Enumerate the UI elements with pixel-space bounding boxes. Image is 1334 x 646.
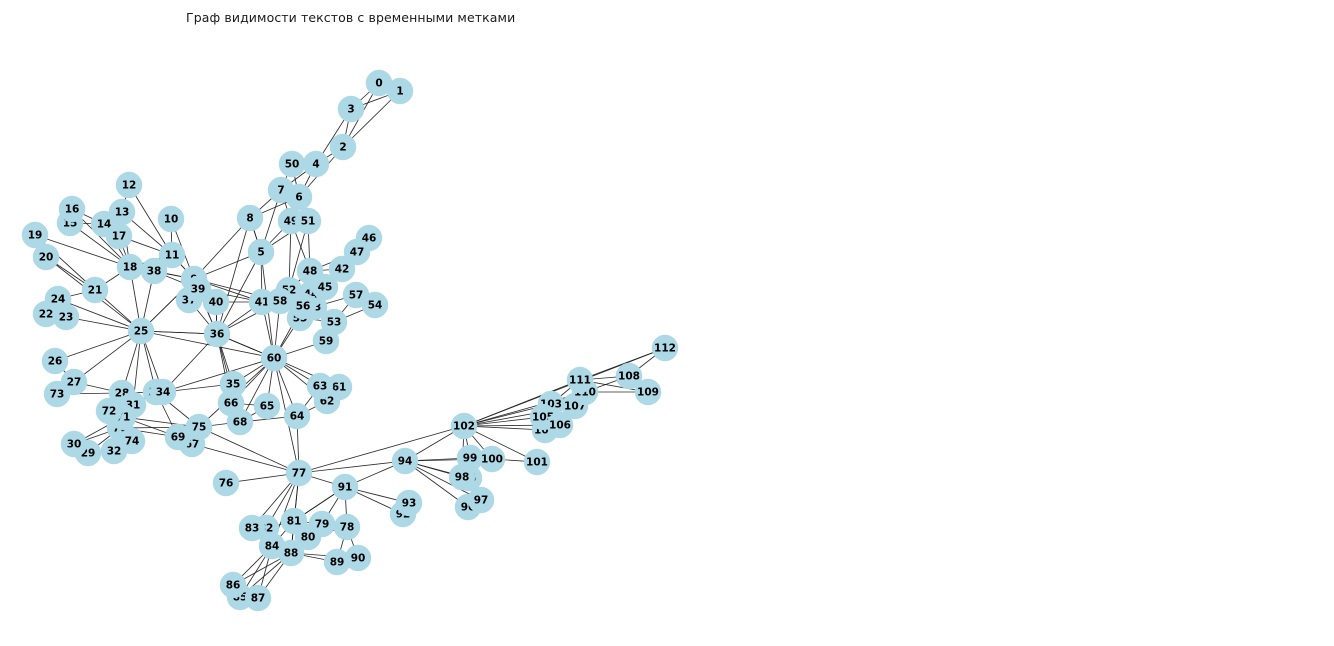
graph-node-112[interactable]: 112 [652, 335, 678, 361]
network-graph: 0123456789101112131415161718192021222324… [0, 0, 700, 646]
node-label: 93 [402, 498, 417, 510]
graph-node-77[interactable]: 77 [286, 460, 312, 486]
graph-node-87[interactable]: 87 [245, 585, 271, 611]
graph-node-78[interactable]: 78 [334, 514, 360, 540]
graph-node-76[interactable]: 76 [213, 470, 239, 496]
graph-node-74[interactable]: 74 [119, 428, 145, 454]
graph-node-34[interactable]: 34 [150, 379, 176, 405]
node-label: 18 [123, 262, 138, 274]
node-label: 84 [265, 541, 280, 553]
graph-node-17[interactable]: 17 [106, 223, 132, 249]
graph-node-7[interactable]: 7 [268, 177, 294, 203]
node-label: 20 [39, 252, 54, 264]
graph-node-100[interactable]: 100 [479, 446, 505, 472]
node-label: 35 [226, 379, 241, 391]
node-label: 3 [347, 104, 354, 116]
graph-node-60[interactable]: 60 [261, 345, 287, 371]
node-label: 98 [455, 472, 470, 484]
graph-node-88[interactable]: 88 [278, 540, 304, 566]
graph-node-25[interactable]: 25 [128, 318, 154, 344]
node-label: 32 [107, 446, 122, 458]
node-label: 11 [165, 250, 180, 262]
node-label: 91 [338, 482, 353, 494]
node-label: 56 [296, 301, 311, 313]
node-label: 75 [192, 422, 207, 434]
graph-edge [299, 461, 405, 473]
graph-node-12[interactable]: 12 [116, 172, 142, 198]
graph-nodes: 0123456789101112131415161718192021222324… [22, 70, 678, 611]
graph-node-48[interactable]: 48 [297, 258, 323, 284]
graph-node-101[interactable]: 101 [524, 449, 550, 475]
graph-node-51[interactable]: 51 [295, 208, 321, 234]
node-label: 69 [171, 432, 186, 444]
node-label: 24 [51, 294, 66, 306]
node-label: 45 [318, 282, 333, 294]
node-label: 80 [301, 532, 316, 544]
graph-node-3[interactable]: 3 [338, 96, 364, 122]
node-label: 27 [67, 377, 82, 389]
node-label: 7 [277, 185, 284, 197]
graph-node-58[interactable]: 58 [267, 288, 293, 314]
node-label: 47 [350, 247, 365, 259]
graph-node-5[interactable]: 5 [248, 239, 274, 265]
node-label: 100 [481, 454, 503, 466]
graph-node-97[interactable]: 97 [468, 487, 494, 513]
graph-node-90[interactable]: 90 [345, 545, 371, 571]
node-label: 51 [301, 216, 316, 228]
graph-edge [55, 331, 141, 361]
node-label: 10 [164, 214, 179, 226]
node-label: 59 [319, 336, 334, 348]
node-label: 72 [102, 406, 117, 418]
node-label: 40 [209, 297, 224, 309]
node-label: 73 [50, 389, 65, 401]
node-label: 87 [251, 593, 266, 605]
graph-node-64[interactable]: 64 [284, 403, 310, 429]
node-label: 83 [245, 523, 260, 535]
node-label: 77 [292, 468, 307, 480]
graph-node-20[interactable]: 20 [33, 244, 59, 270]
graph-node-2[interactable]: 2 [330, 134, 356, 160]
node-label: 99 [463, 453, 478, 465]
graph-node-26[interactable]: 26 [42, 348, 68, 374]
node-label: 23 [59, 312, 74, 324]
node-label: 1 [396, 86, 403, 98]
graph-node-1[interactable]: 1 [387, 78, 413, 104]
graph-node-75[interactable]: 75 [186, 414, 212, 440]
graph-node-65[interactable]: 65 [254, 393, 280, 419]
graph-node-111[interactable]: 111 [567, 367, 593, 393]
graph-node-4[interactable]: 4 [303, 151, 329, 177]
node-label: 19 [28, 230, 43, 242]
node-label: 63 [313, 381, 328, 393]
node-label: 12 [122, 180, 137, 192]
node-label: 30 [67, 439, 82, 451]
graph-node-47[interactable]: 47 [344, 239, 370, 265]
node-label: 102 [453, 421, 475, 433]
node-label: 65 [260, 401, 275, 413]
graph-panel: Граф видимости текстов с временными метк… [0, 0, 700, 646]
figure-root: Граф видимости текстов с временными метк… [0, 0, 1334, 646]
graph-edge [299, 426, 464, 473]
node-label: 25 [134, 326, 149, 338]
node-label: 21 [88, 285, 103, 297]
graph-node-57[interactable]: 57 [343, 282, 369, 308]
graph-node-10[interactable]: 10 [158, 206, 184, 232]
node-label: 17 [112, 231, 127, 243]
node-label: 54 [368, 300, 383, 312]
graph-node-109[interactable]: 109 [635, 379, 661, 405]
node-label: 36 [210, 329, 225, 341]
node-label: 42 [335, 264, 350, 276]
node-label: 108 [618, 371, 640, 383]
node-label: 2 [339, 142, 346, 154]
graph-node-68[interactable]: 68 [227, 409, 253, 435]
node-label: 39 [191, 284, 206, 296]
node-label: 111 [569, 375, 591, 387]
node-label: 97 [474, 495, 489, 507]
graph-node-86[interactable]: 86 [220, 572, 246, 598]
node-label: 86 [226, 580, 241, 592]
graph-node-83[interactable]: 83 [239, 515, 265, 541]
graph-node-18[interactable]: 18 [117, 254, 143, 280]
graph-node-36[interactable]: 36 [204, 321, 230, 347]
node-label: 76 [219, 478, 234, 490]
node-label: 16 [65, 204, 80, 216]
graph-node-94[interactable]: 94 [392, 448, 418, 474]
node-label: 74 [125, 436, 140, 448]
graph-node-24[interactable]: 24 [45, 286, 71, 312]
graph-node-81[interactable]: 81 [281, 508, 307, 534]
node-label: 64 [290, 411, 305, 423]
graph-node-38[interactable]: 38 [141, 258, 167, 284]
graph-node-16[interactable]: 16 [59, 196, 85, 222]
node-label: 4 [312, 159, 319, 171]
node-label: 90 [351, 553, 366, 565]
graph-node-40[interactable]: 40 [203, 289, 229, 315]
node-label: 34 [156, 387, 171, 399]
node-label: 112 [654, 343, 676, 355]
graph-node-73[interactable]: 73 [44, 381, 70, 407]
graph-node-50[interactable]: 50 [279, 151, 305, 177]
node-label: 5 [257, 247, 264, 259]
graph-node-63[interactable]: 63 [307, 373, 333, 399]
node-label: 57 [349, 290, 364, 302]
node-label: 81 [287, 516, 302, 528]
node-label: 6 [295, 192, 302, 204]
graph-node-59[interactable]: 59 [313, 328, 339, 354]
graph-node-72[interactable]: 72 [96, 398, 122, 424]
graph-node-56[interactable]: 56 [290, 293, 316, 319]
node-label: 50 [285, 159, 300, 171]
node-label: 0 [375, 78, 382, 90]
node-label: 26 [48, 356, 63, 368]
graph-node-8[interactable]: 8 [237, 205, 263, 231]
node-label: 60 [267, 353, 282, 365]
node-label: 68 [233, 417, 248, 429]
graph-node-21[interactable]: 21 [82, 277, 108, 303]
node-label: 89 [330, 557, 345, 569]
node-label: 13 [115, 207, 130, 219]
node-label: 66 [224, 398, 239, 410]
node-label: 53 [327, 317, 342, 329]
graph-node-93[interactable]: 93 [396, 490, 422, 516]
node-label: 58 [273, 296, 288, 308]
node-label: 106 [549, 420, 571, 432]
graph-node-91[interactable]: 91 [332, 474, 358, 500]
node-label: 48 [303, 266, 318, 278]
node-label: 94 [398, 456, 413, 468]
node-label: 109 [637, 387, 659, 399]
node-label: 78 [340, 522, 355, 534]
graph-node-30[interactable]: 30 [61, 431, 87, 457]
node-label: 101 [526, 457, 548, 469]
scatter-panel: t-SNE визуализация эмбеддингов узлов −8−… [700, 0, 1334, 646]
graph-node-102[interactable]: 102 [451, 413, 477, 439]
node-label: 88 [284, 548, 299, 560]
node-label: 38 [147, 266, 162, 278]
node-label: 8 [246, 213, 253, 225]
